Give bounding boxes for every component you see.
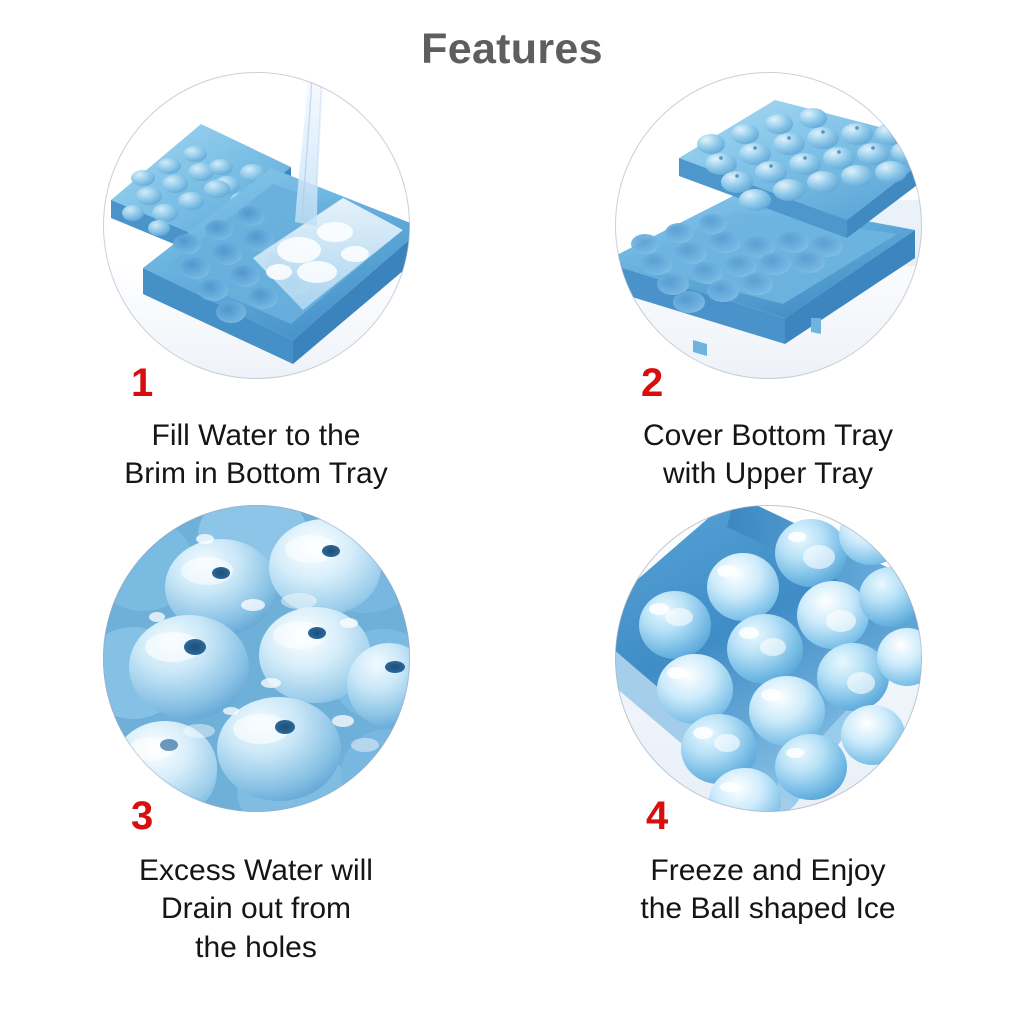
feature-panel-4: 4 Freeze and Enjoy the Ball shaped Ice — [512, 505, 1024, 929]
feature-panel-2: 2 Cover Bottom Tray with Upper Tray — [512, 72, 1024, 494]
step-caption-1: Fill Water to the Brim in Bottom Tray — [0, 379, 512, 494]
feature-panel-3: 3 Excess Water will Drain out from the h… — [0, 505, 512, 967]
frozen-ice-balls-in-tray-illustration — [615, 505, 922, 812]
step-number-3: 3 — [131, 796, 153, 836]
feature-image-2 — [615, 72, 922, 379]
caption-block-4: 4 Freeze and Enjoy the Ball shaped Ice — [512, 812, 1024, 929]
ice-tray-filling-with-water-illustration — [103, 72, 410, 379]
step-number-4: 4 — [646, 796, 668, 836]
step-number-2: 2 — [641, 363, 663, 403]
step-number-1: 1 — [131, 363, 153, 403]
feature-image-1 — [103, 72, 410, 379]
feature-image-3 — [103, 505, 410, 812]
step-caption-3: Excess Water will Drain out from the hol… — [0, 812, 512, 967]
step-caption-4: Freeze and Enjoy the Ball shaped Ice — [512, 812, 1024, 929]
feature-grid: 1 Fill Water to the Brim in Bottom Tray — [0, 0, 1024, 1024]
closeup-dome-bumps-with-drain-holes-illustration — [103, 505, 410, 812]
upper-tray-covering-bottom-tray-illustration — [615, 72, 922, 379]
caption-block-3: 3 Excess Water will Drain out from the h… — [0, 812, 512, 967]
step-caption-2: Cover Bottom Tray with Upper Tray — [512, 379, 1024, 494]
features-infographic: Features — [0, 0, 1024, 1024]
feature-image-4 — [615, 505, 922, 812]
caption-block-2: 2 Cover Bottom Tray with Upper Tray — [512, 379, 1024, 494]
caption-block-1: 1 Fill Water to the Brim in Bottom Tray — [0, 379, 512, 494]
feature-panel-1: 1 Fill Water to the Brim in Bottom Tray — [0, 72, 512, 494]
